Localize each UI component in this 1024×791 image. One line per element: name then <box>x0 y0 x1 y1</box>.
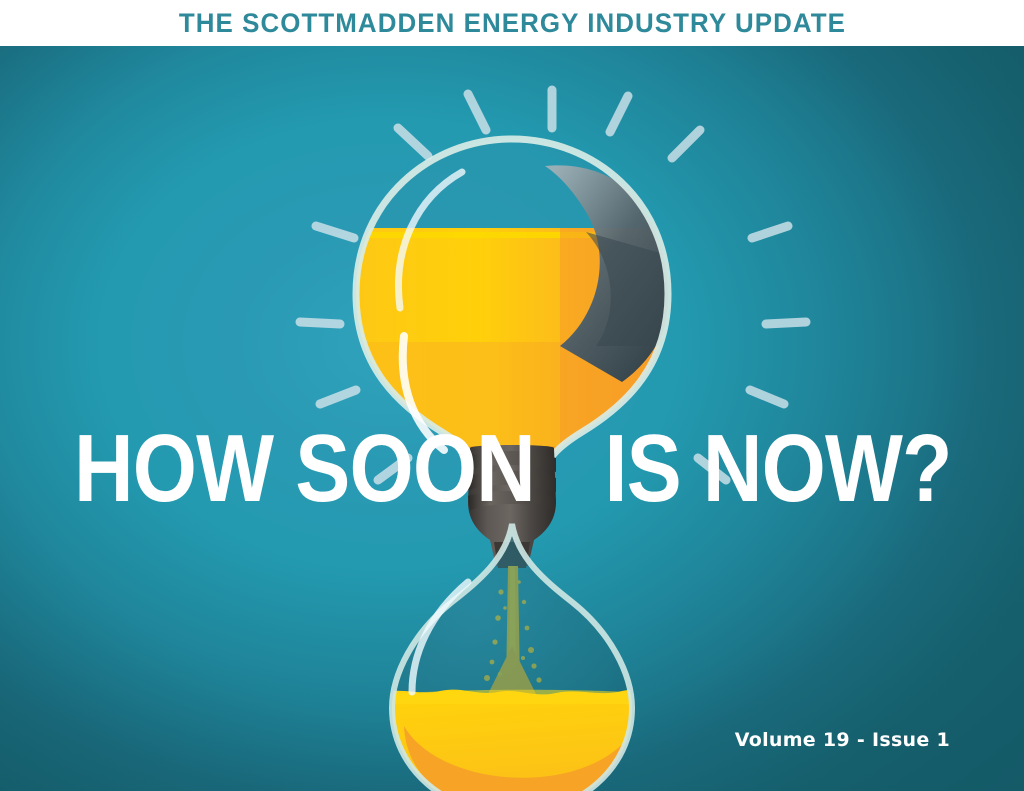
publication-title: THE SCOTTMADDEN ENERGY INDUSTRY UPDATE <box>178 8 845 39</box>
volume-issue-label: Volume 19 - Issue 1 <box>735 729 950 751</box>
newsletter-cover: THE SCOTTMADDEN ENERGY INDUSTRY UPDATE <box>0 0 1024 791</box>
cover-background: HOW SOON IS NOW? Volume 19 - Issue 1 <box>0 46 1024 791</box>
cover-text-layer: HOW SOON IS NOW? Volume 19 - Issue 1 <box>0 46 1024 791</box>
headline-left: HOW SOON <box>74 421 535 517</box>
headline-right: IS NOW? <box>605 421 952 517</box>
header-band: THE SCOTTMADDEN ENERGY INDUSTRY UPDATE <box>0 0 1024 46</box>
